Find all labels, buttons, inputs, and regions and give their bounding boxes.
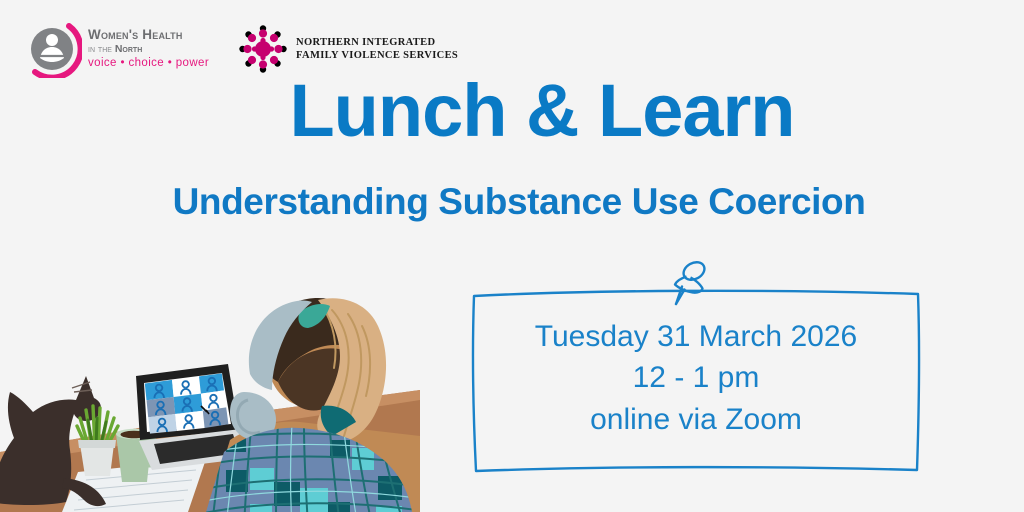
woman-figure-circle-logo-icon xyxy=(22,20,82,78)
nifvs-line2: Family Violence Services xyxy=(296,49,458,62)
event-details-box: Tuesday 31 March 2026 12 - 1 pm online v… xyxy=(468,270,924,475)
illustration-svg xyxy=(0,240,420,512)
event-location: online via Zoom xyxy=(468,399,924,440)
whin-line2-thin: in the xyxy=(88,43,115,55)
whin-line2: in the North xyxy=(88,44,209,55)
event-date: Tuesday 31 March 2026 xyxy=(468,316,924,357)
page-title: Lunch & Learn xyxy=(0,74,1024,148)
event-details-text: Tuesday 31 March 2026 12 - 1 pm online v… xyxy=(468,316,924,440)
nifvs-line1: Northern Integrated xyxy=(296,36,458,49)
video-call-tiles xyxy=(145,373,229,433)
push-pin-icon xyxy=(675,259,707,304)
whin-logo: Women's Health in the North voice • choi… xyxy=(22,20,209,78)
nifvs-wordmark: Northern Integrated Family Violence Serv… xyxy=(296,36,458,62)
nifvs-logo: Northern Integrated Family Violence Serv… xyxy=(239,25,458,73)
whin-wordmark: Women's Health in the North voice • choi… xyxy=(88,28,209,70)
poster-canvas: Women's Health in the North voice • choi… xyxy=(0,0,1024,512)
whin-line2-bold: North xyxy=(115,43,142,55)
radial-dot-flower-logo-icon xyxy=(239,25,287,73)
illustration-person-at-laptop xyxy=(0,240,420,512)
page-subtitle: Understanding Substance Use Coercion xyxy=(0,182,1024,223)
whin-tagline: voice • choice • power xyxy=(88,58,209,70)
whin-line1: Women's Health xyxy=(88,28,209,42)
event-time: 12 - 1 pm xyxy=(468,357,924,398)
